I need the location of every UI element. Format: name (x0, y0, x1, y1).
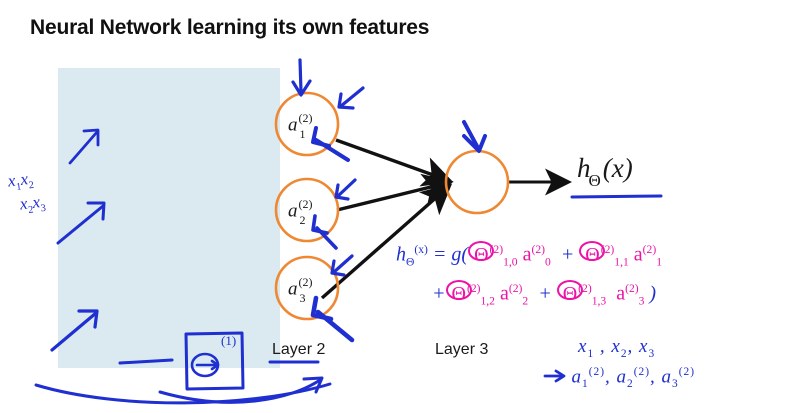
eq1-h: h (396, 244, 406, 266)
eq2-a-sub-1: 2 (522, 295, 528, 308)
hypothesis-label: hΘ(x) (577, 153, 633, 188)
hypothesis-theta: Θ (589, 171, 601, 190)
eq1-theta-ring-1 (468, 241, 494, 261)
eq2-a-sup-2: (2) (625, 282, 639, 295)
neuron-a3-sup: (2) (299, 275, 313, 289)
eq1-theta-sub-1: 1,0 (503, 256, 518, 269)
neuron-label-a2: a(2)2 (288, 198, 318, 225)
layer3-caption: Layer 3 (435, 341, 488, 359)
neuron-output[interactable] (446, 151, 508, 213)
eq1-theta: Θ (406, 256, 414, 269)
eq2-theta-ring-1 (446, 280, 472, 300)
ink-underline-region (120, 360, 172, 363)
diagram-svg (0, 0, 785, 413)
ink-arrow-ne-1 (341, 88, 363, 106)
eq2-theta-ring-2 (557, 280, 583, 300)
ink-arrow-left-upper (70, 132, 97, 163)
neuron-a2-sup: (2) (299, 197, 313, 211)
eq2-theta-sub-1: 1,2 (480, 295, 495, 308)
eq2-plus-lead: + (432, 283, 446, 305)
eq2-theta-sub-2: 1,3 (592, 295, 607, 308)
hypothesis-arg: (x) (603, 153, 633, 183)
neuron-label-a3: a(2)3 (288, 276, 318, 303)
eq2-plus: + (538, 283, 552, 305)
ink-arrow-ne-2 (338, 180, 355, 196)
eq2-theta-term-1: Θ (451, 283, 467, 306)
neuron-a3-base: a (288, 278, 298, 299)
ink-annotations (36, 60, 661, 403)
neuron-a1-sub: 1 (300, 127, 306, 141)
ink-activations-list: a1(2), a2(2), a3(2) (560, 366, 695, 390)
ink-arrow-ne-3 (334, 256, 352, 272)
edge-a1-output (336, 140, 447, 180)
eq1-a-sup-1: (2) (531, 243, 545, 256)
equation-line-2: + Θ(2)1,2 a(2)2 + Θ(2)1,3 a(2)3 ) (432, 282, 656, 308)
eq1-arg: (x) (414, 243, 428, 256)
neuron-label-a1: a(2)1 (288, 112, 318, 139)
ink-feature-x1x2: x1x2 (7, 169, 35, 194)
eq1-plus: + (561, 244, 575, 266)
neuron-a2-base: a (288, 200, 298, 221)
eq1-theta-sub-2: 1,1 (614, 256, 629, 269)
neuron-a3-sub: 3 (300, 291, 306, 305)
neuron-a2-sub: 2 (300, 213, 306, 227)
eq2-close: ) (649, 283, 656, 305)
ink-feature-x2x3: x2x3 (19, 192, 47, 217)
eq1-equals: = (433, 244, 447, 266)
eq2-a-2: a (616, 283, 625, 305)
eq2-a-sup-1: (2) (509, 282, 523, 295)
edge-a2-output (337, 183, 447, 210)
ink-arrow-down-top (300, 60, 301, 92)
equation-line-1: hΘ(x) = g( Θ(2)1,0 a(2)0 + Θ(2)1,1 a(2)1 (396, 243, 662, 269)
ink-arrow-left-lower (52, 313, 96, 350)
connection-edges (322, 140, 566, 298)
eq1-g: g (451, 244, 461, 266)
ink-underline-hypothesis (572, 196, 661, 197)
neuron-a1-sup: (2) (299, 111, 313, 125)
eq1-a-sub-2: 1 (656, 256, 662, 269)
eq1-theta-term-1: Θ (473, 244, 489, 267)
eq1-a-2: a (634, 244, 643, 266)
layer2-caption: Layer 2 (272, 341, 325, 359)
eq1-a-sup-2: (2) (643, 243, 657, 256)
ink-theta-box-sup: (1) (221, 333, 236, 349)
ink-curve-left (36, 384, 330, 403)
eq2-theta-term-2: Θ (562, 283, 578, 306)
eq1-open: ( (461, 244, 468, 266)
eq1-theta-term-2: Θ (584, 244, 600, 267)
neuron-a1-base: a (288, 114, 298, 135)
ink-arrow-features (58, 206, 103, 243)
slide-canvas: Neural Network learning its own features (0, 0, 785, 413)
eq2-a-1: a (500, 283, 509, 305)
eq1-theta-ring-2 (579, 241, 605, 261)
ink-inputs-list: x1 , x2, x3 (578, 336, 655, 360)
eq1-a-sub-1: 0 (545, 256, 551, 269)
eq2-a-sub-2: 3 (639, 295, 645, 308)
